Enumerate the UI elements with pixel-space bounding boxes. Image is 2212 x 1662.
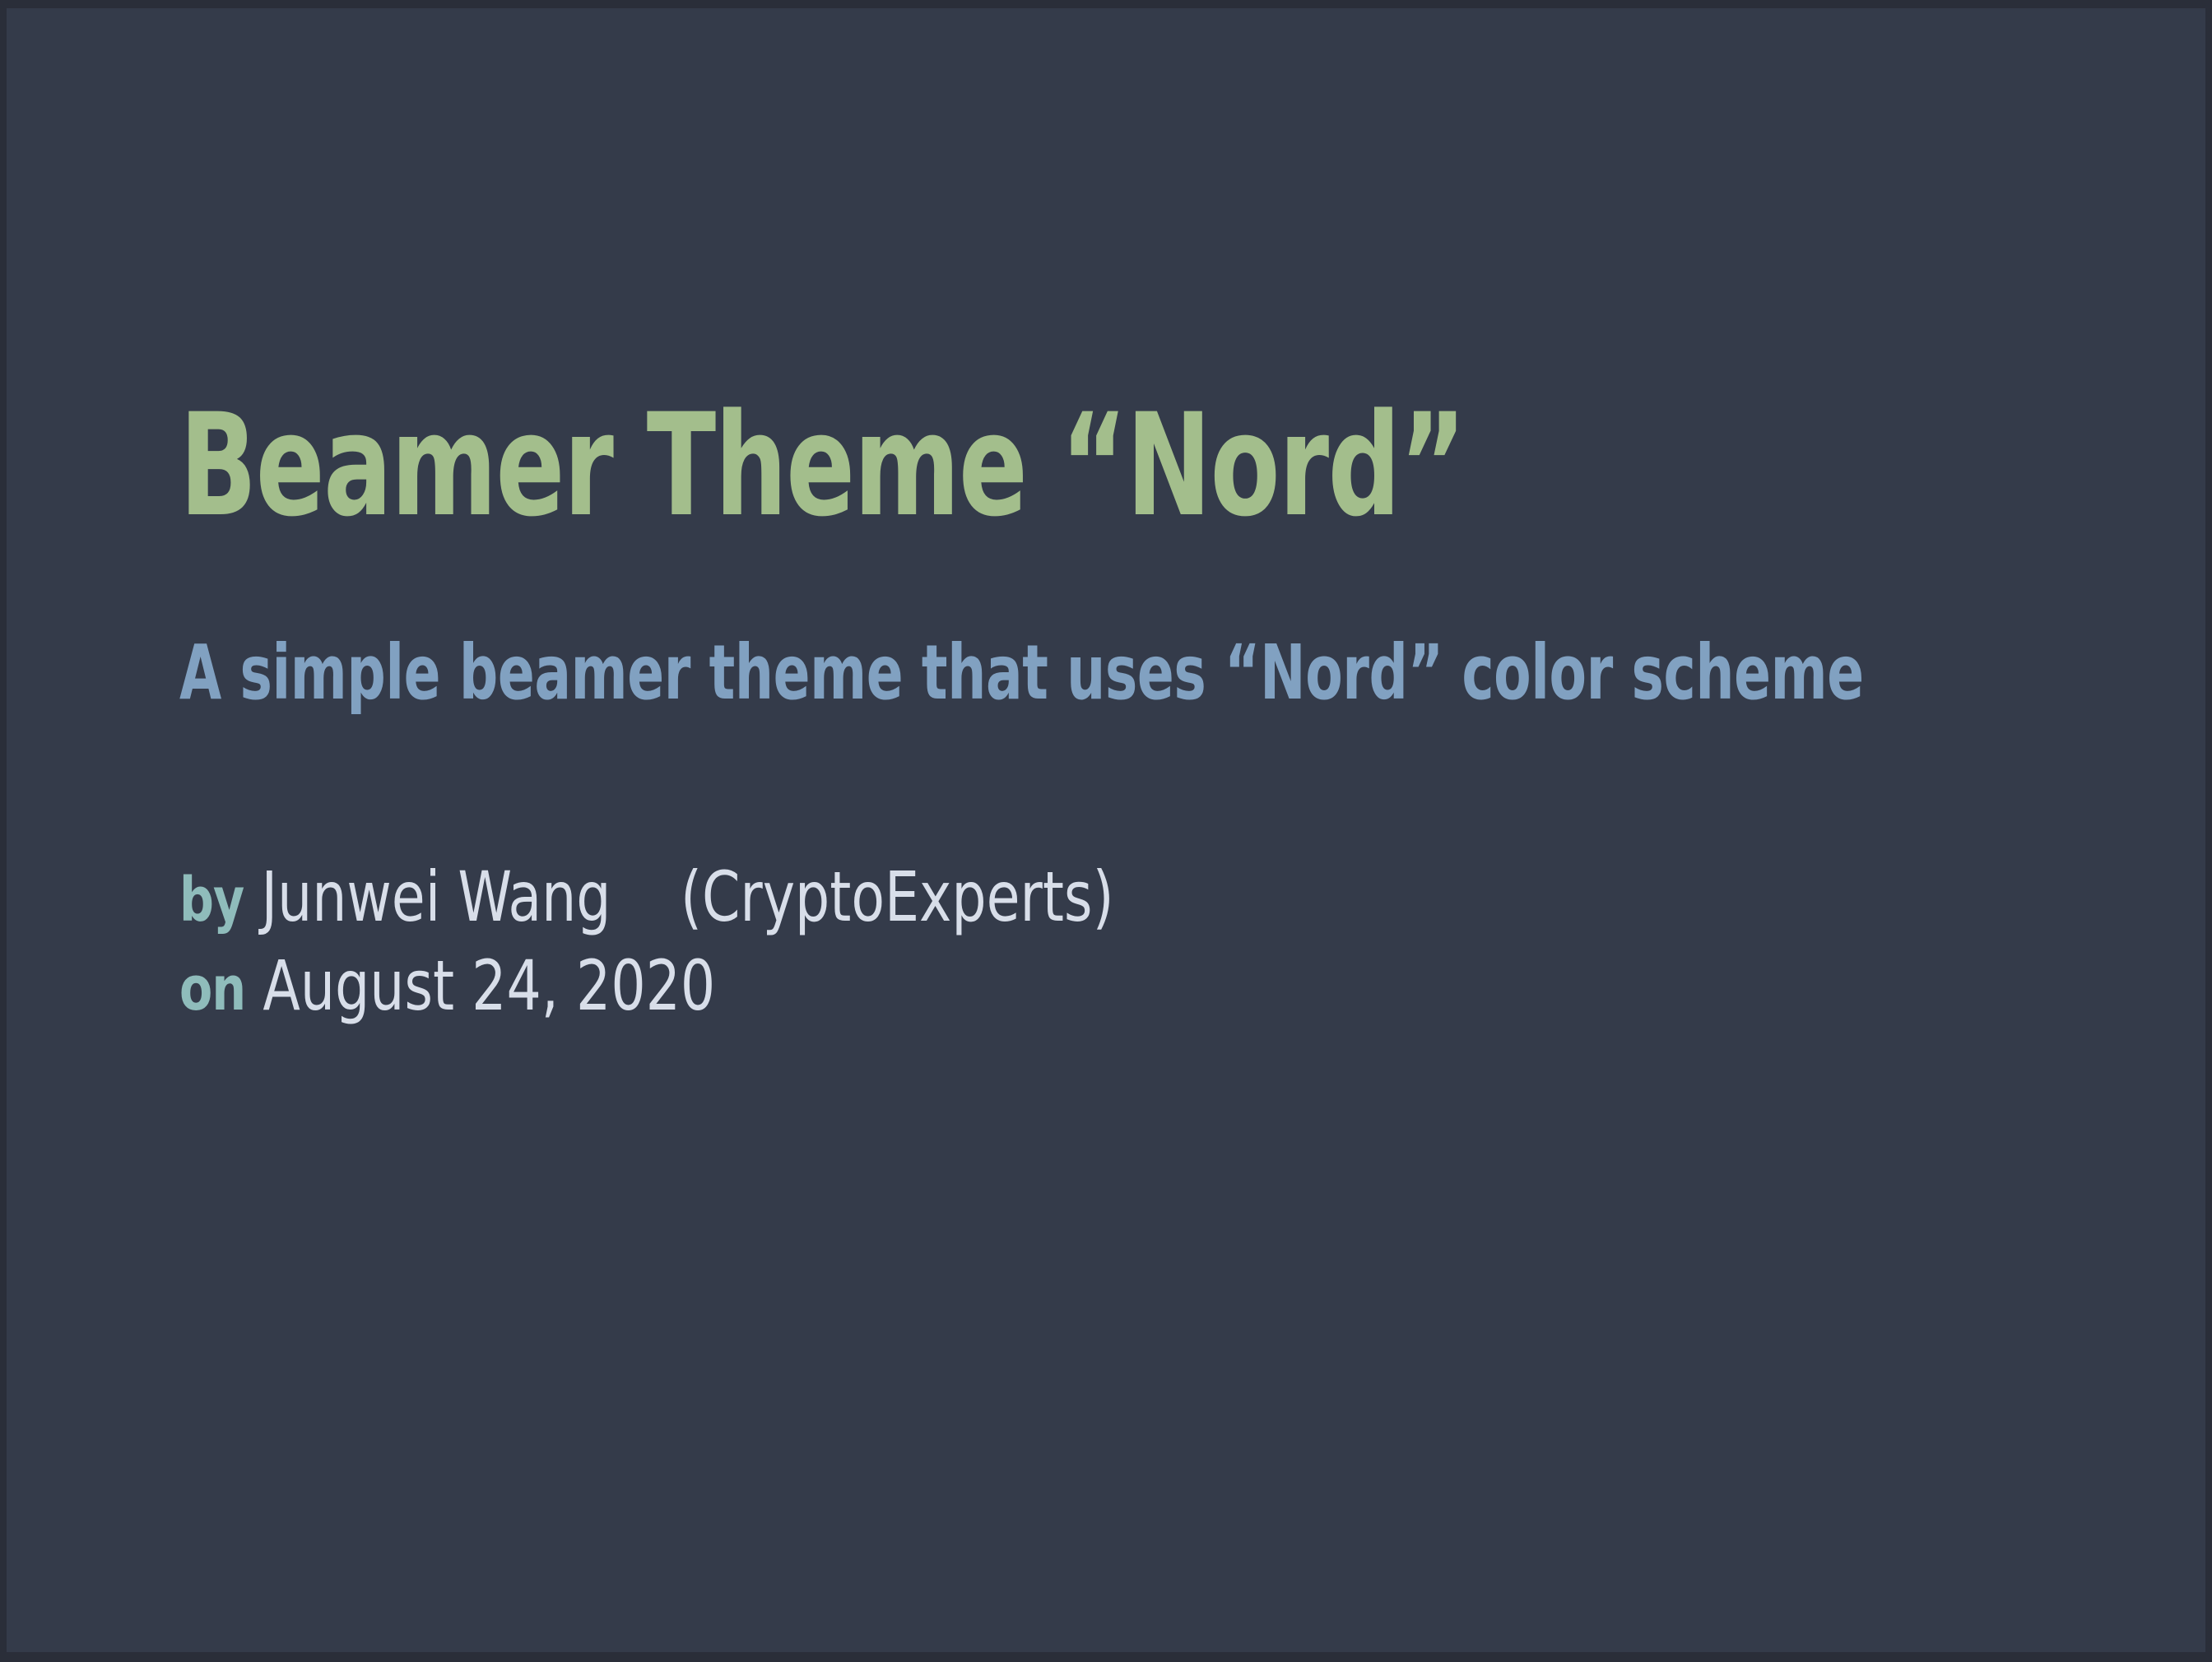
- author-line: by Junwei Wang(CryptoExperts): [179, 854, 1845, 943]
- page-subtitle: A simple beamer theme that uses “Nord” c…: [179, 536, 1694, 711]
- date-line: on August 24, 2020: [179, 943, 1845, 1032]
- author-name: Junwei Wang: [261, 857, 611, 937]
- pdf-viewer-frame: Beamer Theme “Nord” A simple beamer them…: [0, 0, 2212, 1662]
- date-keyword: on: [179, 954, 245, 1024]
- page-title: Beamer Theme “Nord”: [179, 395, 1694, 536]
- date-value: August 24, 2020: [263, 945, 715, 1026]
- presentation-slide: Beamer Theme “Nord” A simple beamer them…: [7, 8, 2205, 1652]
- author-keyword: by: [179, 865, 244, 935]
- author-affiliation: (CryptoExperts): [681, 857, 1114, 937]
- title-block: Beamer Theme “Nord” A simple beamer them…: [179, 395, 2072, 711]
- author-date-block: by Junwei Wang(CryptoExperts) on August …: [179, 854, 2072, 1032]
